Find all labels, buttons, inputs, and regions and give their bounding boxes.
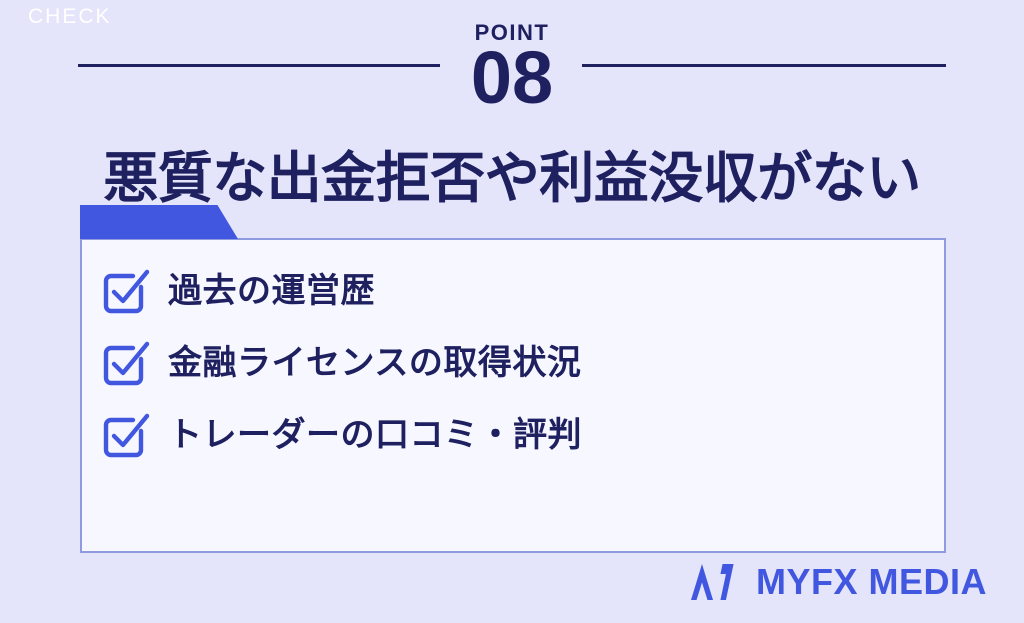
checkbox-checked-icon	[100, 409, 152, 461]
slide-root: POINT 08 悪質な出金拒否や利益没収がない CHECK 過去の運営歴	[0, 0, 1024, 623]
checklist: 過去の運営歴 金融ライセンスの取得状況 トレ	[100, 262, 920, 478]
list-item: 過去の運営歴	[100, 262, 920, 319]
list-item: 金融ライセンスの取得状況	[100, 334, 920, 391]
page-title: 悪質な出金拒否や利益没収がない	[0, 148, 1024, 209]
list-item-label: 過去の運営歴	[168, 274, 375, 308]
brand-logo: MYFX MEDIA	[686, 560, 987, 604]
header: POINT 08 悪質な出金拒否や利益没収がない	[0, 0, 1024, 190]
list-item: トレーダーの口コミ・評判	[100, 406, 920, 463]
brand-logo-text: MYFX MEDIA	[756, 564, 987, 600]
check-tab-label: CHECK	[28, 6, 112, 27]
list-item-label: トレーダーの口コミ・評判	[168, 418, 582, 452]
check-tab	[80, 205, 238, 239]
checklist-panel: 過去の運営歴 金融ライセンスの取得状況 トレ	[80, 238, 946, 553]
myfx-peaks-mark-icon	[686, 562, 742, 602]
checkbox-checked-icon	[100, 265, 152, 317]
point-number: 08	[0, 41, 1024, 115]
checkbox-checked-icon	[100, 337, 152, 389]
list-item-label: 金融ライセンスの取得状況	[168, 346, 581, 380]
